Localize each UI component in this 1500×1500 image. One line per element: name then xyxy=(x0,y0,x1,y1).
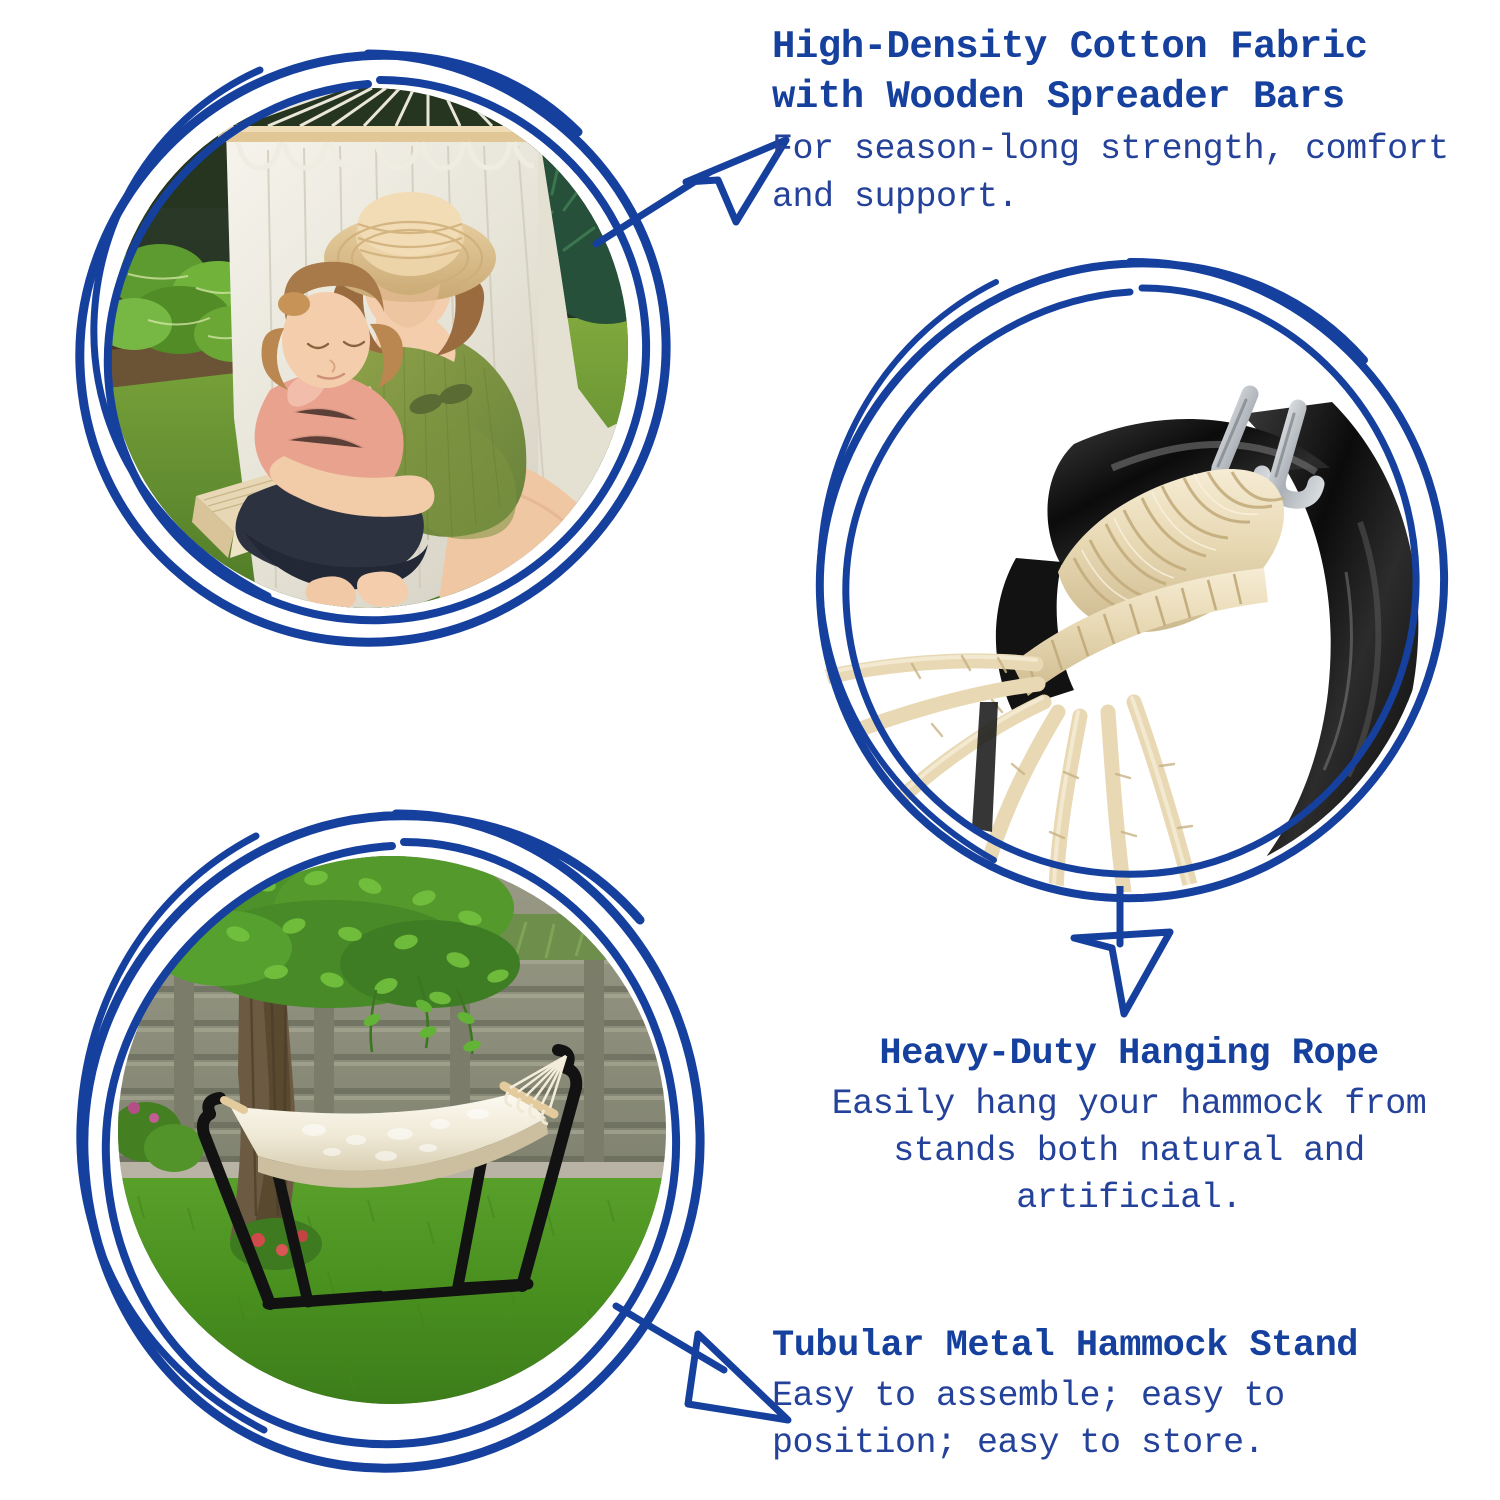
feature-text-cotton-fabric: High-Density Cotton Fabric with Wooden S… xyxy=(772,22,1488,221)
feature-text-metal-stand: Tubular Metal Hammock Stand Easy to asse… xyxy=(772,1322,1488,1467)
feature-body-hanging-rope: Easily hang your hammock from stands bot… xyxy=(770,1081,1488,1222)
feature-title-cotton-fabric: High-Density Cotton Fabric with Wooden S… xyxy=(772,22,1488,122)
infographic-canvas: High-Density Cotton Fabric with Wooden S… xyxy=(0,0,1500,1500)
feature-title-metal-stand: Tubular Metal Hammock Stand xyxy=(772,1322,1488,1370)
feature-body-metal-stand: Easy to assemble; easy to position; easy… xyxy=(772,1373,1488,1467)
feature-body-cotton-fabric: For season-long strength, comfort and su… xyxy=(772,125,1488,221)
sketch-circle-frame-2 xyxy=(790,252,1480,912)
feature-image-hanging-rope xyxy=(790,252,1480,912)
feature-text-hanging-rope: Heavy-Duty Hanging Rope Easily hang your… xyxy=(770,1030,1488,1222)
feature-title-hanging-rope: Heavy-Duty Hanging Rope xyxy=(770,1030,1488,1078)
feature-image-metal-stand xyxy=(52,800,732,1485)
feature-image-cotton-fabric xyxy=(50,40,690,670)
arrow-down-icon xyxy=(1058,886,1218,1026)
